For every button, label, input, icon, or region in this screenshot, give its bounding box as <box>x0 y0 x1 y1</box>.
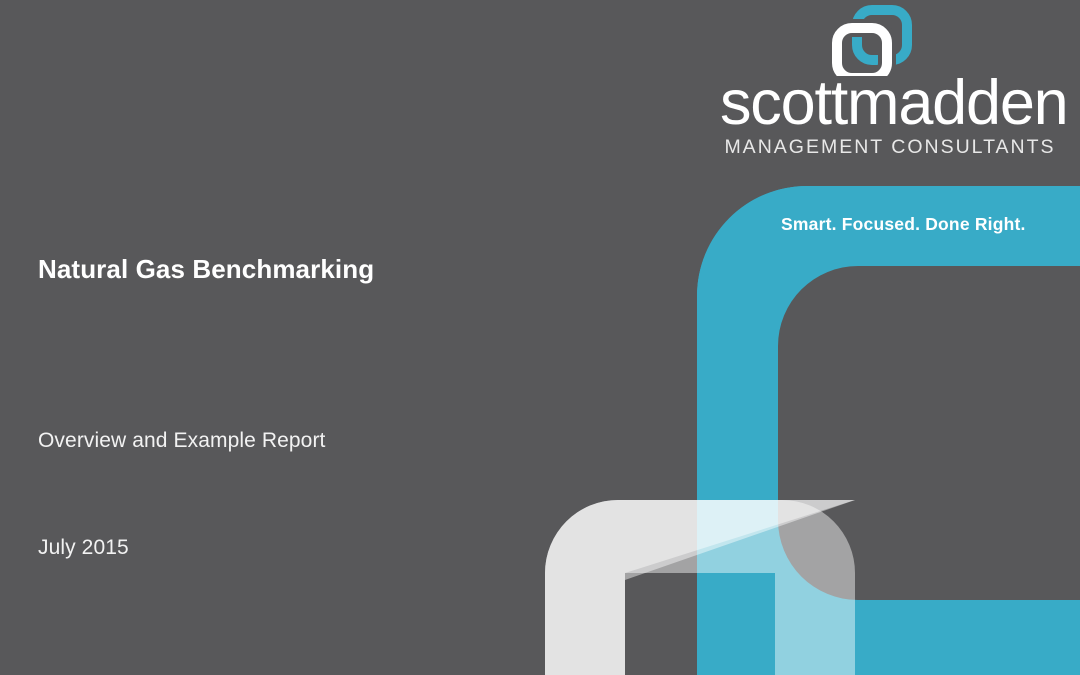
logo-descriptor: MANAGEMENT CONSULTANTS <box>720 136 1060 159</box>
brand-logo: scottmadden MANAGEMENT CONSULTANTS <box>720 4 1060 159</box>
gray-bracket-shape <box>545 500 855 675</box>
slide-title: Natural Gas Benchmarking <box>38 254 374 285</box>
slide-subtitle: Overview and Example Report <box>38 429 326 453</box>
cyan-bracket-shape <box>697 186 1080 675</box>
interlocking-rounded-squares-icon <box>813 4 931 76</box>
logo-mark <box>720 4 1060 76</box>
brand-tagline: Smart. Focused. Done Right. <box>781 214 1026 235</box>
slide-date: July 2015 <box>38 536 129 560</box>
logo-wordmark: scottmadden <box>720 76 1060 130</box>
title-slide: scottmadden MANAGEMENT CONSULTANTS Smart… <box>0 0 1080 675</box>
